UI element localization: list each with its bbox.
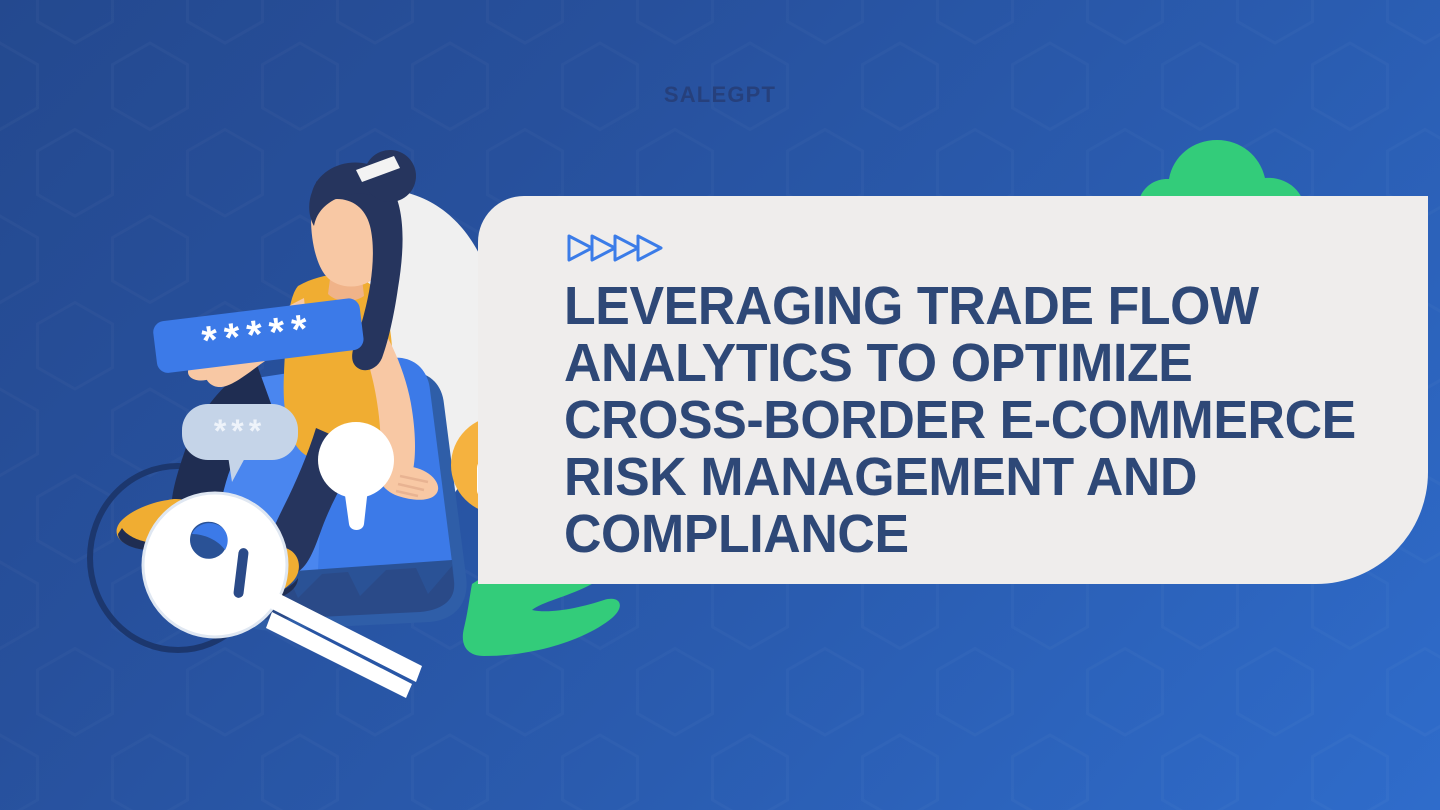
slide-root: SALEGPT — [0, 0, 1440, 810]
slide-title: LEVERAGING TRADE FLOW ANALYTICS TO OPTIM… — [564, 278, 1380, 563]
brand-name: SALEGPT — [0, 82, 1440, 108]
play-arrow-icon-4 — [633, 232, 665, 264]
svg-text:***: *** — [214, 413, 266, 449]
arrow-decoration — [564, 232, 656, 264]
title-card: LEVERAGING TRADE FLOW ANALYTICS TO OPTIM… — [478, 196, 1428, 584]
